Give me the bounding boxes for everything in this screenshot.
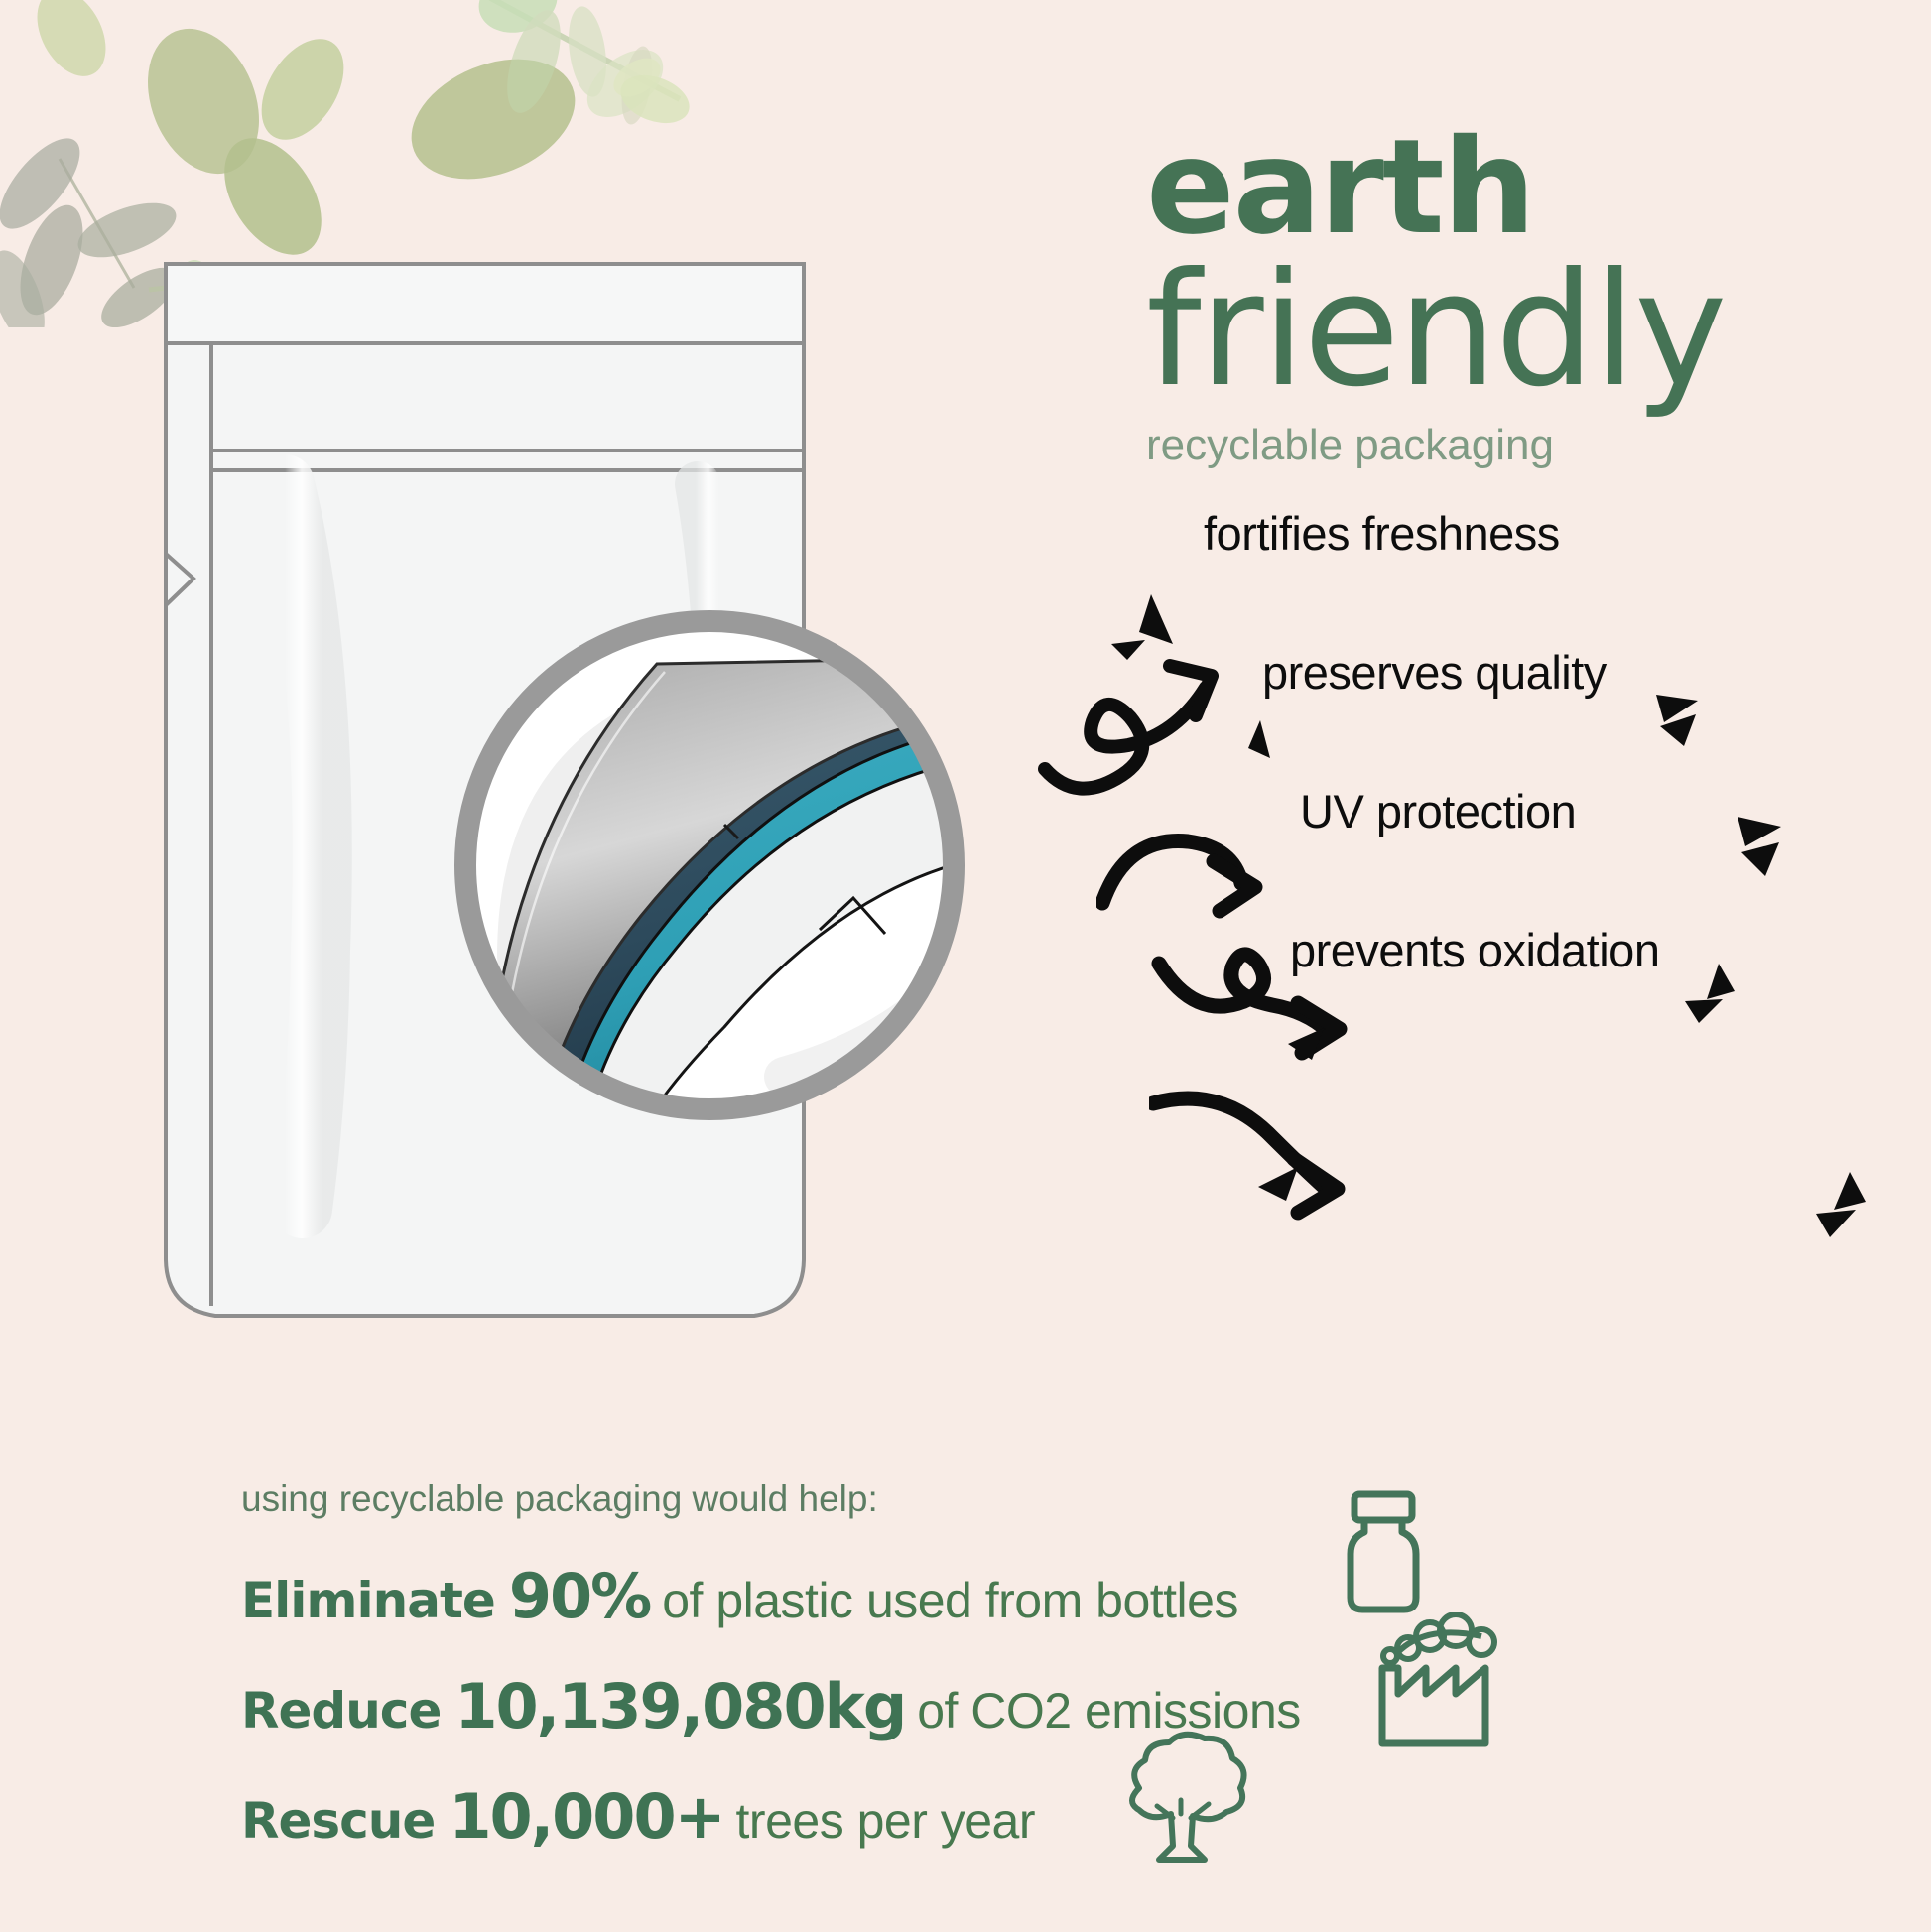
title-line-friendly: friendly [1146, 256, 1930, 405]
feature-label-preserves-quality: preserves quality [1262, 645, 1607, 700]
sparkle-icon-freshness-right [1642, 685, 1732, 774]
leaf-decoration-right [466, 0, 923, 198]
stat-tail: trees per year [736, 1792, 1035, 1850]
bottle-icon [1325, 1488, 1444, 1617]
sparkle-icon-oxidation-left [1252, 1131, 1312, 1211]
stat-verb: Reduce [241, 1682, 441, 1739]
feature-label-uv-protection: UV protection [1300, 784, 1576, 838]
tree-icon [1109, 1727, 1253, 1870]
title-line-earth: earth [1146, 124, 1930, 252]
sparkle-icon-quality-right [1722, 809, 1811, 903]
stat-row-plastic: Eliminate 90% of plastic used from bottl… [241, 1560, 1392, 1632]
magnifier-circle [427, 561, 992, 1171]
curly-arrow-icon-oxidation [1149, 1072, 1387, 1230]
stat-verb: Eliminate [241, 1572, 495, 1629]
feature-label-prevents-oxidation: prevents oxidation [1290, 923, 1659, 977]
title-subtitle: recyclable packaging [1146, 421, 1930, 470]
factory-icon [1364, 1612, 1513, 1751]
title-block: earth friendly recyclable packaging [1146, 124, 1930, 470]
sparkle-icon-uv-right [1677, 958, 1766, 1042]
infographic-canvas: earth friendly recyclable packaging fort… [0, 0, 1931, 1932]
sparkle-icon-oxidation-right [1806, 1166, 1895, 1255]
sparkle-icon-uv-left [1278, 1000, 1338, 1070]
sparkle-icon-freshness-top [1094, 590, 1223, 700]
stat-value: 90% [509, 1560, 650, 1632]
stat-verb: Rescue [241, 1792, 435, 1850]
stat-value: 10,139,080kg [454, 1670, 905, 1742]
stat-tail: of plastic used from bottles [662, 1572, 1238, 1629]
sparkle-icon-quality-top [1230, 714, 1290, 784]
curly-arrow-icon-quality [1096, 784, 1325, 933]
feature-label-fortifies-freshness: fortifies freshness [1204, 506, 1560, 561]
stats-intro-text: using recyclable packaging would help: [241, 1479, 1392, 1520]
stat-value: 10,000+ [449, 1780, 723, 1853]
